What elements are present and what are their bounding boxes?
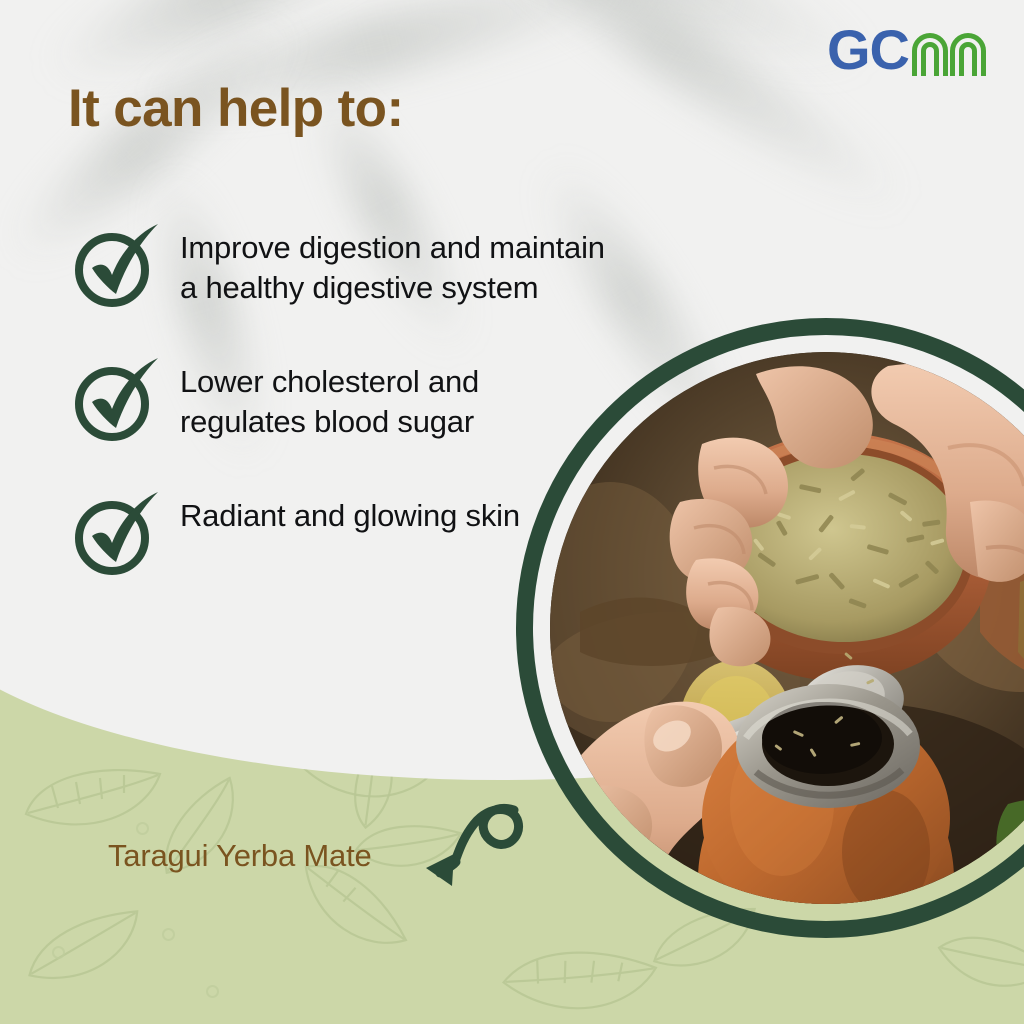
page-title: It can help to:	[68, 78, 404, 139]
curly-arrow-left-icon	[418, 790, 538, 900]
dot-watermark	[162, 928, 175, 941]
dot-watermark	[136, 822, 149, 835]
benefit-label: Improve digestion and maintain a healthy…	[180, 218, 610, 307]
check-circle-icon	[70, 352, 166, 444]
product-caption: Taragui Yerba Mate	[108, 838, 372, 874]
logo-text-gc: GC	[827, 22, 909, 78]
benefit-label: Lower cholesterol and regulates blood su…	[180, 352, 610, 441]
benefit-item: Improve digestion and maintain a healthy…	[70, 218, 610, 310]
check-circle-icon	[70, 218, 166, 310]
logo-mark-m-icon	[910, 31, 988, 77]
dot-watermark	[206, 985, 219, 998]
benefits-list: Improve digestion and maintain a healthy…	[70, 218, 610, 620]
benefit-label: Radiant and glowing skin	[180, 486, 520, 536]
dot-watermark	[52, 946, 65, 959]
check-circle-icon	[70, 486, 166, 578]
benefit-item: Lower cholesterol and regulates blood su…	[70, 352, 610, 444]
brand-logo[interactable]: GC	[827, 22, 988, 78]
benefit-item: Radiant and glowing skin	[70, 486, 610, 578]
poster-canvas: GC It can help to: Improve digestion and…	[0, 0, 1024, 1024]
